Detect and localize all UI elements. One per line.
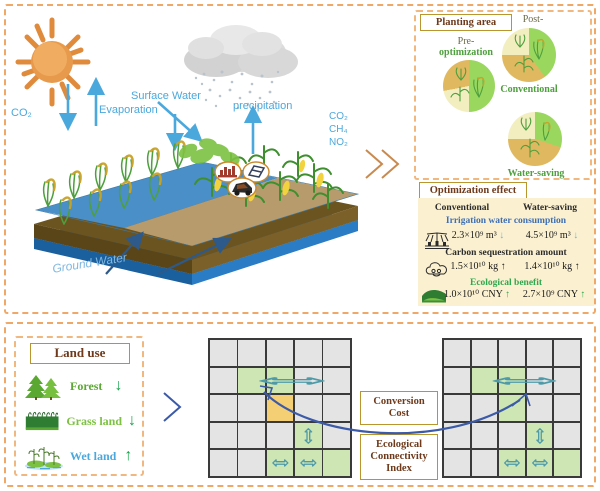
pie-conventional-crop-glyphs — [502, 28, 556, 82]
arrow-left-right-icon — [472, 368, 524, 394]
opt-section-ecological-name: Ecological benefit — [418, 278, 594, 288]
post-label: Post- — [508, 14, 558, 25]
opt-ecological-water-saving: 2.7×10⁹ CNY ↑ — [516, 289, 592, 300]
grid-cell[interactable] — [210, 368, 237, 394]
grid-cell[interactable] — [295, 450, 322, 476]
land-use-title: Land use — [30, 343, 130, 364]
grid-cell[interactable] — [267, 450, 294, 476]
opt-carbon-water-saving: 1.4×10¹⁰ kg ↑ — [514, 261, 590, 272]
label-emission-ch4: CH₄ — [329, 124, 348, 135]
conversion-cost-line2: Cost — [389, 408, 409, 420]
grid-cell[interactable] — [210, 340, 237, 366]
grid-cell[interactable] — [267, 340, 294, 366]
label-surface-water: Surface Water — [131, 90, 201, 102]
arrow-up-down-icon — [527, 423, 553, 449]
chevron-double-right-icon-top — [362, 142, 408, 186]
grid-cell[interactable] — [210, 395, 237, 421]
grid-cell[interactable] — [295, 340, 322, 366]
label-emission-co2: CO₂ — [329, 111, 348, 122]
grid-cell[interactable] — [499, 423, 525, 449]
water-saving-label: Water-saving — [498, 168, 574, 179]
cloud-icon — [184, 25, 298, 78]
opt-irrigation-conventional: 2.3×10⁹ m³ ↓ — [444, 230, 512, 241]
grid-cell[interactable] — [527, 340, 553, 366]
eci-line2: Connectivity — [370, 451, 427, 463]
surface-water-arrow — [158, 102, 196, 136]
pre-label-line1: Pre- — [458, 36, 475, 47]
arrow-left-right-icon — [238, 368, 292, 394]
grid-cell[interactable] — [472, 340, 498, 366]
grid-cell[interactable] — [527, 450, 553, 476]
arrow-left-right-icon — [527, 450, 553, 476]
sun-icon — [18, 20, 88, 104]
grid-cell[interactable] — [210, 450, 237, 476]
grid-cell[interactable] — [444, 340, 470, 366]
chevron-double-right-icon-bottom — [158, 385, 192, 429]
opt-ecological-ws-arrow: ↑ — [580, 289, 585, 300]
optimization-effect-table: Conventional Water-saving Irrigation wat… — [418, 198, 594, 306]
grid-cell[interactable] — [527, 395, 553, 421]
label-precipitation: precipitation — [233, 100, 292, 112]
grid-cell[interactable] — [472, 368, 498, 394]
land-use-label-forest: Forest — [70, 379, 102, 394]
optimization-effect-title: Optimization effect — [419, 182, 527, 199]
eci-line1: Ecological — [376, 439, 422, 451]
arrow-up-down-icon — [295, 423, 322, 449]
grid-cell[interactable] — [554, 450, 580, 476]
before-grid[interactable] — [208, 338, 352, 478]
grid-cell[interactable] — [554, 340, 580, 366]
grid-cell[interactable] — [295, 395, 322, 421]
label-evaporation: Evaporation — [99, 104, 158, 116]
grid-cell[interactable] — [499, 450, 525, 476]
grid-cell[interactable] — [323, 340, 350, 366]
vehicle-icon — [228, 178, 256, 198]
grass-icon — [24, 408, 60, 434]
label-emission-no2: NO₂ — [329, 137, 348, 148]
opt-section-irrigation-name: Irrigation water consumption — [418, 216, 594, 226]
grid-cell[interactable] — [295, 423, 322, 449]
grid-cell[interactable] — [554, 395, 580, 421]
pie-pre-crop-glyphs — [443, 60, 495, 112]
opt-carbon-conventional: 1.5×10¹⁰ kg ↑ — [444, 261, 512, 272]
opt-irrigation-conv-value: 2.3×10⁹ m³ — [452, 230, 497, 241]
pie-water-saving-crop-glyphs — [508, 112, 562, 166]
opt-ecological-conventional: 1.0×10¹⁰ CNY ↑ — [440, 289, 514, 300]
land-use-item-grass: Grass land ↓ — [24, 406, 136, 436]
wetland-icon — [24, 441, 64, 471]
arrow-left-right-icon — [499, 450, 525, 476]
grid-cell[interactable] — [267, 395, 294, 421]
grid-cell[interactable] — [238, 423, 265, 449]
land-use-item-wetland: Wet land ↑ — [24, 440, 136, 472]
label-co2: CO₂ — [11, 107, 32, 119]
land-use-item-forest: Forest ↓ — [24, 370, 136, 402]
grid-cell[interactable] — [472, 423, 498, 449]
opt-col-conventional: Conventional — [424, 203, 500, 213]
grid-cell[interactable] — [444, 368, 470, 394]
eci-line3: Index — [386, 463, 412, 475]
land-use-trend-forest: ↓ — [114, 377, 122, 395]
grid-cell[interactable] — [499, 340, 525, 366]
opt-section-carbon-name: Carbon sequestration amount — [418, 248, 594, 258]
grid-cell[interactable] — [267, 423, 294, 449]
planting-area-title: Planting area — [420, 14, 512, 31]
opt-carbon-ws-value: 1.4×10¹⁰ kg — [524, 261, 572, 272]
grid-cell[interactable] — [527, 423, 553, 449]
pre-label-line2: optimization — [439, 47, 493, 58]
opt-irrigation-ws-arrow: ↓ — [573, 230, 578, 241]
arrow-left-right-icon — [295, 450, 322, 476]
grid-cell[interactable] — [238, 395, 265, 421]
grid-cell[interactable] — [444, 423, 470, 449]
conversion-cost-line1: Conversion — [373, 396, 424, 408]
grid-cell[interactable] — [444, 395, 470, 421]
after-grid[interactable] — [442, 338, 582, 478]
opt-carbon-conv-value: 1.5×10¹⁰ kg — [450, 261, 498, 272]
opt-ecological-conv-value: 1.0×10¹⁰ CNY — [444, 289, 502, 300]
opt-ecological-ws-value: 2.7×10⁹ CNY — [523, 289, 578, 300]
forest-icon — [24, 371, 64, 401]
ecological-connectivity-index-box: Ecological Connectivity Index — [360, 434, 438, 480]
opt-irrigation-conv-arrow: ↓ — [499, 230, 504, 241]
conventional-label: Conventional — [494, 84, 564, 95]
opt-irrigation-water-saving: 4.5×10⁹ m³ ↓ — [514, 230, 590, 241]
grid-cell[interactable] — [210, 423, 237, 449]
grid-cell[interactable] — [554, 423, 580, 449]
land-use-label-wetland: Wet land — [70, 449, 116, 464]
opt-carbon-ws-arrow: ↑ — [575, 261, 580, 272]
grid-cell[interactable] — [323, 395, 350, 421]
grid-cell[interactable] — [472, 395, 498, 421]
arrow-left-right-icon — [267, 450, 294, 476]
land-use-trend-wetland: ↑ — [124, 447, 132, 465]
grid-cell[interactable] — [323, 423, 350, 449]
grid-cell[interactable] — [323, 450, 350, 476]
grid-cell[interactable] — [499, 395, 525, 421]
conversion-cost-box: Conversion Cost — [360, 391, 438, 425]
grid-cell[interactable] — [238, 340, 265, 366]
opt-col-water-saving: Water-saving — [510, 203, 590, 213]
grid-cell[interactable] — [238, 368, 265, 394]
opt-ecological-conv-arrow: ↑ — [505, 289, 510, 300]
land-use-label-grass: Grass land — [66, 414, 122, 429]
opt-carbon-conv-arrow: ↑ — [501, 261, 506, 272]
pre-optimization-label: Pre- optimization — [428, 36, 504, 58]
grid-cell[interactable] — [472, 450, 498, 476]
grid-cell[interactable] — [238, 450, 265, 476]
opt-irrigation-ws-value: 4.5×10⁹ m³ — [526, 230, 571, 241]
land-use-trend-grass: ↓ — [128, 412, 136, 430]
grid-cell[interactable] — [444, 450, 470, 476]
